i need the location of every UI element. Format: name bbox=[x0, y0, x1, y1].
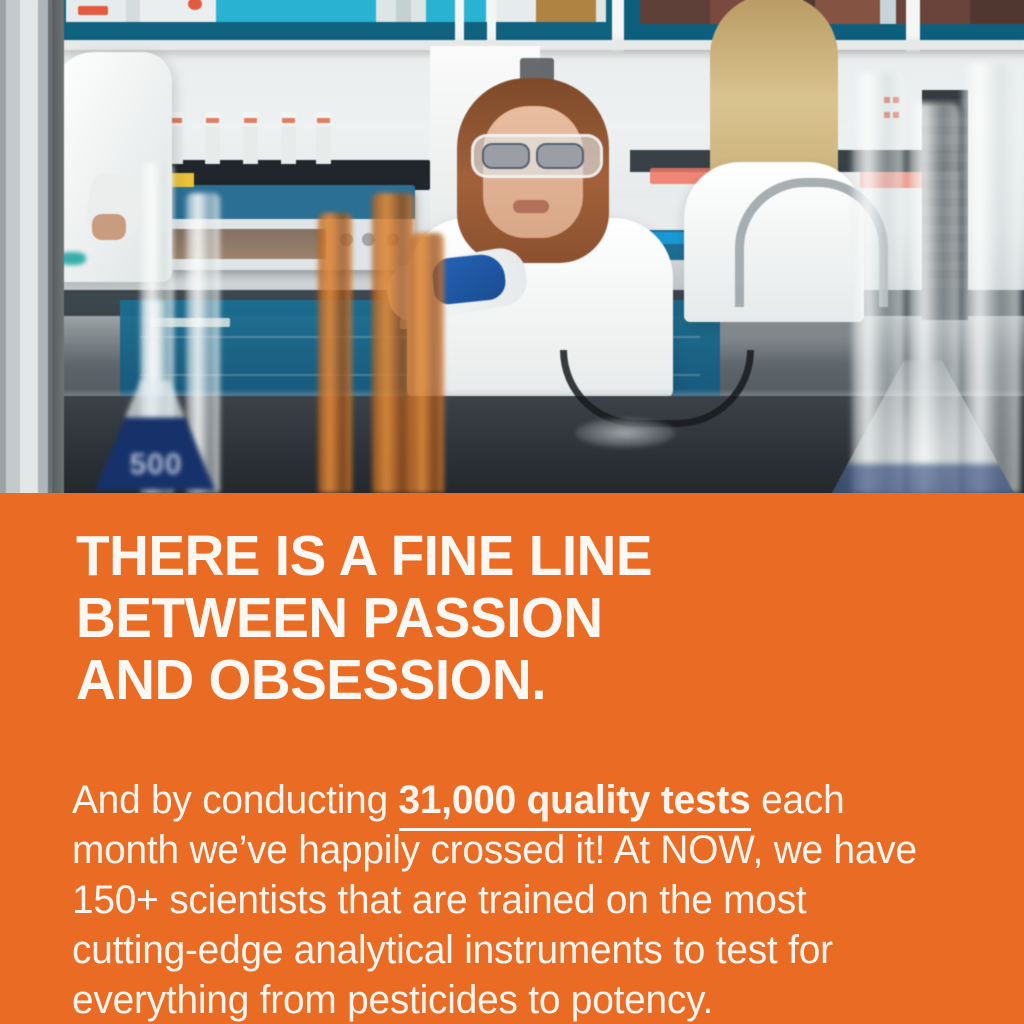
vial bbox=[281, 112, 296, 164]
flask-volume-label: 500 bbox=[113, 448, 199, 482]
vial bbox=[205, 112, 220, 164]
instrument-screen bbox=[156, 229, 326, 259]
photo-scene: 500 bbox=[0, 0, 1024, 493]
headline: THERE IS A FINE LINE BETWEEN PASSION AND… bbox=[76, 525, 945, 711]
shelf-item-red-a bbox=[78, 6, 108, 15]
goggle-lens-right bbox=[536, 143, 584, 169]
body-copy: And by conducting 31,000 quality tests e… bbox=[72, 775, 926, 1024]
laboratory-scientists-photo: 500 bbox=[0, 0, 1024, 493]
foreground-amber-column bbox=[372, 193, 414, 493]
shelf-contents-left bbox=[66, 0, 606, 22]
foreground-amber-column bbox=[410, 233, 444, 493]
volumetric-flask-500ml: 500 bbox=[95, 300, 215, 490]
orange-message-panel: THERE IS A FINE LINE BETWEEN PASSION AND… bbox=[0, 493, 1024, 1024]
door-frame-left bbox=[0, 0, 64, 493]
body-copy-before: And by conducting bbox=[72, 778, 399, 822]
scientist-center-mouth bbox=[513, 200, 549, 213]
petri-dish bbox=[575, 418, 675, 448]
scientist-left-hand bbox=[92, 214, 126, 240]
goggle-lens-left bbox=[482, 143, 530, 169]
cabinet-lip bbox=[60, 40, 1024, 50]
social-card: 500 THERE IS A FINE LINE BETWEEN PASSION… bbox=[0, 0, 1024, 1024]
safety-goggles-icon bbox=[471, 134, 603, 178]
vial bbox=[243, 112, 258, 164]
vial bbox=[316, 112, 331, 164]
foreground-amber-column bbox=[318, 213, 352, 493]
quality-tests-highlight: 31,000 quality tests bbox=[399, 778, 751, 822]
